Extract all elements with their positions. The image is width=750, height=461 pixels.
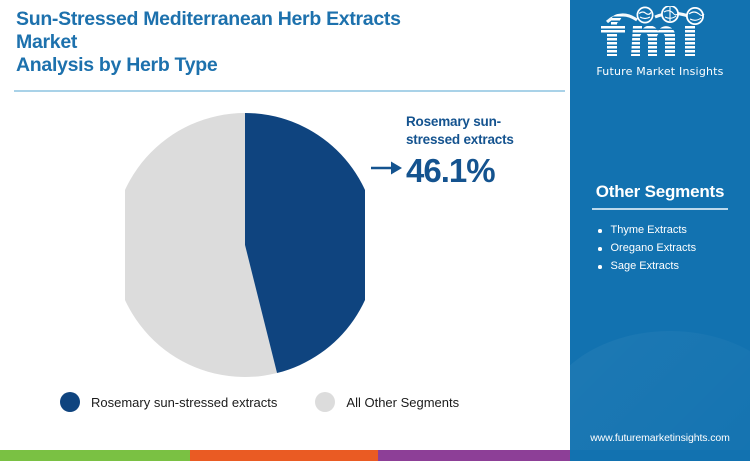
other-segments-divider (592, 208, 728, 210)
callout-arrow-icon (371, 159, 403, 182)
segment-label: Oregano Extracts (611, 240, 697, 257)
pie-chart (125, 113, 365, 377)
logo-tagline: Future Market Insights (570, 65, 750, 78)
header-divider (14, 90, 565, 92)
footer-bar-purple (378, 450, 570, 461)
infographic-canvas: Sun-Stressed Mediterranean Herb Extracts… (0, 0, 750, 461)
title-line-1: Sun-Stressed Mediterranean Herb Extracts (16, 8, 556, 31)
page-title: Sun-Stressed Mediterranean Herb Extracts… (16, 8, 556, 77)
globe-icons (637, 6, 705, 25)
list-item: Sage Extracts (598, 258, 748, 275)
legend-item-rosemary[interactable]: Rosemary sun-stressed extracts (60, 392, 277, 412)
legend-swatch-navy-icon (60, 392, 80, 412)
legend-item-all-other-segments[interactable]: All Other Segments (315, 392, 459, 412)
legend-swatch-grey-icon (315, 392, 335, 412)
fmi-logo[interactable]: Future Market Insights (570, 6, 750, 78)
bullet-icon (598, 229, 602, 233)
callout-block: Rosemary sun- stressed extracts 46.1% (406, 113, 556, 190)
list-item: Thyme Extracts (598, 222, 748, 239)
title-line-2: Market (16, 31, 556, 54)
segment-label: Thyme Extracts (611, 222, 687, 239)
footer-color-bar (0, 450, 750, 461)
footer-bar-blue (570, 450, 750, 461)
callout-value: 46.1% (406, 152, 556, 190)
legend-label: Rosemary sun-stressed extracts (91, 395, 277, 410)
side-panel: Future Market Insights Other Segments Th… (570, 0, 750, 461)
callout-label-line-2: stressed extracts (406, 131, 556, 149)
footer-bar-green (0, 450, 190, 461)
chart-legend: Rosemary sun-stressed extracts All Other… (60, 392, 530, 412)
other-segments-list: Thyme Extracts Oregano Extracts Sage Ext… (598, 222, 748, 276)
bullet-icon (598, 265, 602, 269)
pie-chart-svg (125, 113, 365, 377)
list-item: Oregano Extracts (598, 240, 748, 257)
title-line-3: Analysis by Herb Type (16, 54, 556, 77)
website-url[interactable]: www.futuremarketinsights.com (570, 432, 750, 444)
legend-label: All Other Segments (346, 395, 459, 410)
segment-label: Sage Extracts (611, 258, 679, 275)
other-segments-heading: Other Segments (570, 182, 750, 202)
callout-label-line-1: Rosemary sun- (406, 113, 556, 131)
bullet-icon (598, 247, 602, 251)
footer-bar-orange (190, 450, 378, 461)
fmi-logo-icon (589, 6, 731, 62)
